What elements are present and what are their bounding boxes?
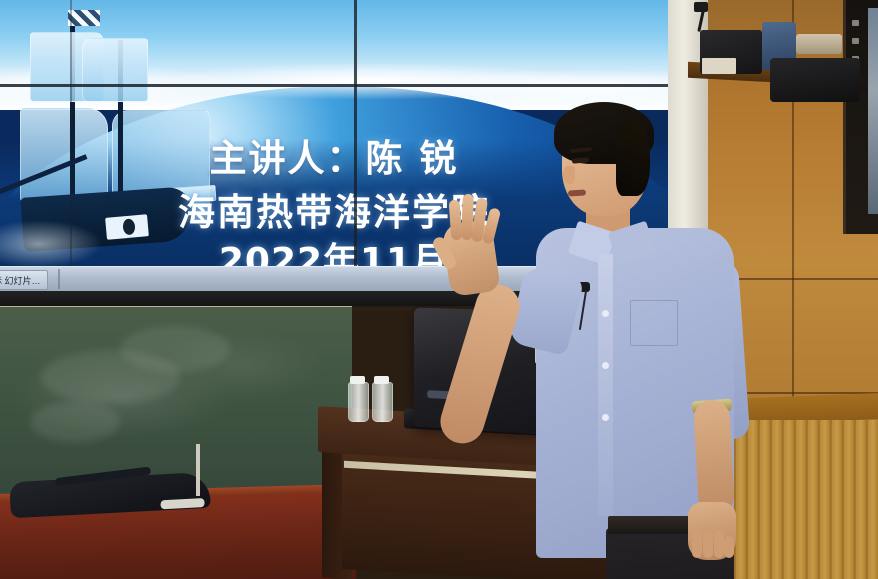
beige-av-box — [796, 34, 842, 54]
wall-mounted-monitor[interactable] — [843, 0, 878, 234]
taskbar-divider — [58, 269, 60, 289]
videowall-bezel-vertical — [354, 0, 357, 268]
water-bottle — [348, 382, 369, 422]
wall-plug — [694, 2, 708, 12]
shirt-pocket — [630, 300, 678, 346]
speaker-nose — [563, 166, 575, 184]
videowall-bezel-vertical — [70, 0, 72, 268]
speaker — [520, 104, 780, 579]
shirt-placket — [598, 254, 613, 516]
monitor-button[interactable] — [852, 20, 859, 26]
water-bottle — [372, 382, 393, 422]
monitor-button[interactable] — [852, 38, 859, 44]
black-av-box — [770, 58, 860, 102]
speaker-mouth — [568, 189, 586, 196]
lecture-hall-screenshot: 主讲人：陈 锐 海南热带海洋学院 2022年11月 标 幻灯片… ✕ — [0, 0, 878, 579]
speaker-right-forearm — [693, 399, 735, 515]
equipment-label — [702, 58, 736, 74]
taskbar-task-button[interactable]: 标 幻灯片… — [0, 270, 48, 290]
speaker-right-hand — [688, 502, 736, 560]
monitor-screen — [868, 8, 878, 214]
videowall-bezel-horizontal — [0, 84, 668, 87]
speaker-hair-side — [616, 122, 650, 196]
microphone-stand — [196, 444, 200, 496]
